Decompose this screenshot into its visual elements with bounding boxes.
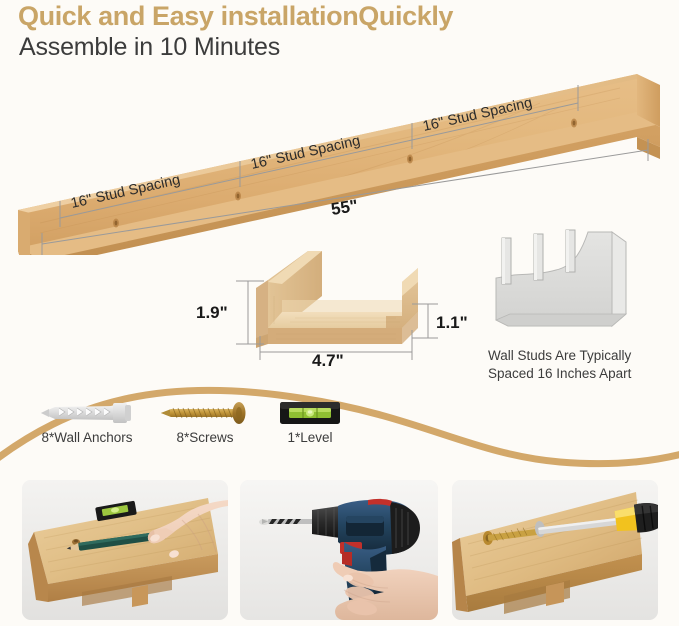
wall-anchor-icon: [35, 400, 139, 426]
accessory-wall-anchors: 8*Wall Anchors: [24, 400, 150, 445]
accessory-label-wall-anchors: 8*Wall Anchors: [24, 430, 150, 445]
photo-1-art: [22, 480, 228, 620]
infographic-page: Quick and Easy installationQuickly Assem…: [0, 0, 679, 626]
photo-3-art: [452, 480, 658, 620]
screw-icon: [155, 400, 255, 426]
wall-studs-caption-line1: Wall Studs Are Typically: [488, 347, 668, 365]
photo-2-art: [240, 480, 438, 620]
accessory-label-screws: 8*Screws: [152, 430, 258, 445]
accessory-label-level: 1*Level: [272, 430, 348, 445]
photo-driving-screw: [452, 480, 658, 620]
accessory-level: 1*Level: [272, 400, 348, 445]
wall-studs-diagram: [470, 228, 670, 358]
level-icon: [279, 400, 341, 426]
accessory-screws: 8*Screws: [152, 400, 258, 445]
height-dimension-label: 1.9": [196, 303, 228, 322]
photo-marking-with-pencil: [22, 480, 228, 620]
page-headline: Quick and Easy installationQuickly: [18, 1, 453, 32]
width-dimension-label: 4.7": [312, 351, 344, 368]
shelf-hero-illustration: 16" Stud Spacing 16" Stud Spacing 16" St…: [0, 55, 679, 255]
lip-dimension-label: 1.1": [436, 313, 468, 332]
photo-drilling-wall: [240, 480, 438, 620]
shelf-length-label: 55": [330, 196, 360, 219]
drill-bit: [262, 519, 314, 524]
cross-section-diagram: 1.9" 1.1" 4.7": [190, 238, 470, 368]
